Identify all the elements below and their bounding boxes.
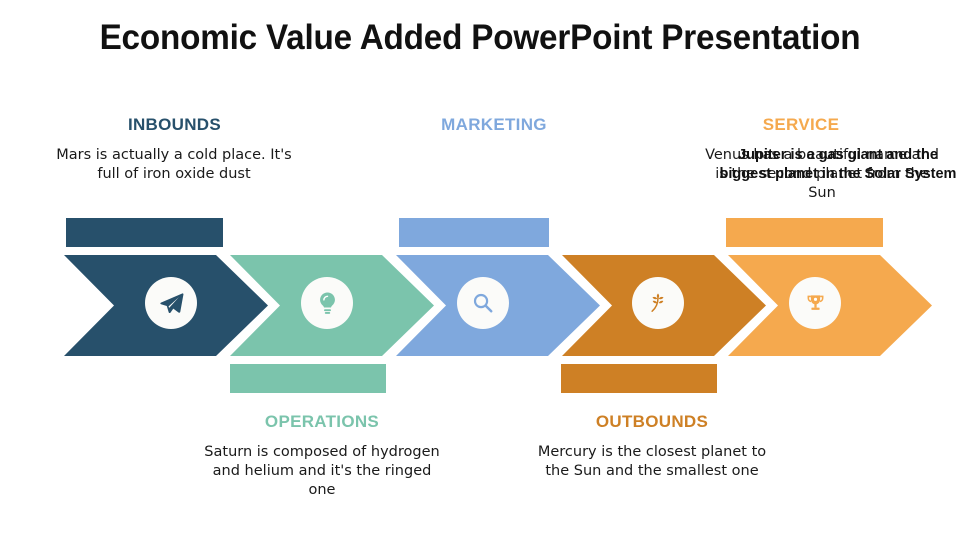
- slide-canvas: Economic Value Added PowerPoint Presenta…: [0, 0, 960, 540]
- connector-bar-outbounds: [561, 364, 717, 393]
- step-description-outbounds: Mercury is the closest planet to the Sun…: [530, 443, 774, 481]
- process-chevron-band: [0, 0, 960, 540]
- leaf-branch-icon: [632, 277, 684, 329]
- search-icon: [457, 277, 509, 329]
- step-label-operations: OPERATIONS: [190, 412, 454, 432]
- trophy-icon: [789, 277, 841, 329]
- connector-bar-inbounds: [66, 218, 223, 247]
- connector-bar-marketing: [399, 218, 549, 247]
- step-description-operations: Saturn is composed of hydrogen and heliu…: [200, 443, 444, 500]
- paper-plane-icon: [145, 277, 197, 329]
- lightbulb-icon: [301, 277, 353, 329]
- connector-bar-service: [726, 218, 883, 247]
- step-label-outbounds: OUTBOUNDS: [520, 412, 784, 432]
- connector-bar-operations: [230, 364, 386, 393]
